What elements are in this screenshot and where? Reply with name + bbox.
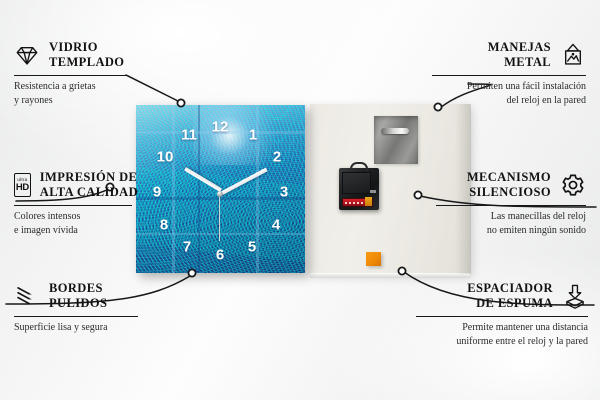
diamond-icon — [14, 42, 40, 68]
ultra-hd-badge-icon: ultra HD — [14, 173, 31, 197]
feature-divider — [432, 75, 586, 77]
feature-divider — [416, 316, 588, 318]
connector-node-espaciador — [398, 267, 405, 274]
feature-title-line2: SILENCIOSO — [467, 185, 551, 200]
connector-node-bordes — [188, 269, 195, 276]
feature-title-line2: ALTA CALIDAD — [40, 185, 138, 200]
feature-title-line1: IMPRESIÓN DE — [40, 170, 138, 185]
feature-impresion-alta-calidad: ultra HD IMPRESIÓN DE ALTA CALIDAD Color… — [14, 170, 138, 237]
feature-title-line1: MANEJAS — [488, 40, 551, 55]
feature-title-line1: MECANISMO — [467, 170, 551, 185]
feature-title-line2: PULIDOS — [49, 296, 107, 311]
feature-bordes-pulidos: BORDES PULIDOS Superficie lisa y segura — [14, 281, 138, 335]
feature-divider — [436, 205, 586, 207]
wall-hanger-icon — [560, 42, 586, 68]
connector-node-vidrio — [177, 99, 184, 106]
feature-desc-line2: y rayones — [14, 94, 132, 108]
feature-manejas-metal: MANEJAS METAL Permiten una fácil instala… — [432, 40, 586, 107]
feature-desc-line2: no emiten ningún sonido — [436, 224, 586, 238]
feature-divider — [14, 75, 126, 77]
feature-mecanismo-silencioso: MECANISMO SILENCIOSO Las manecillas del … — [436, 170, 586, 237]
infographic-canvas: 12 1 2 3 4 5 6 7 8 9 10 11 — [0, 0, 600, 400]
feature-title-line2: METAL — [488, 55, 551, 70]
feature-desc-line1: Resistencia a grietas — [14, 80, 132, 94]
feature-desc-line1: Las manecillas del reloj — [436, 210, 586, 224]
feature-title-line2: DE ESPUMA — [467, 296, 553, 311]
feature-desc-line2: del reloj en la pared — [432, 94, 586, 108]
feature-desc-line2: uniforme entre el reloj y la pared — [416, 335, 588, 349]
feature-desc-line1: Permiten una fácil instalación — [432, 80, 586, 94]
feature-title-line1: BORDES — [49, 281, 107, 296]
feature-divider — [14, 205, 132, 207]
badge-text-hd: HD — [16, 183, 29, 193]
connector-node-mecanismo — [414, 191, 421, 198]
connector-vidrio-templado — [126, 75, 178, 101]
foam-spacer-arrow-icon — [562, 283, 588, 309]
feature-vidrio-templado: VIDRIO TEMPLADO Resistencia a grietas y … — [14, 40, 132, 107]
feature-title-line2: TEMPLADO — [49, 55, 124, 70]
feature-espaciador-espuma: ESPACIADOR DE ESPUMA Permite mantener un… — [416, 281, 588, 348]
feature-title-line1: VIDRIO — [49, 40, 124, 55]
polished-edges-icon — [14, 283, 40, 309]
feature-title-line1: ESPACIADOR — [467, 281, 553, 296]
feature-divider — [14, 316, 138, 318]
feature-desc-line2: e imagen vívida — [14, 224, 138, 238]
feature-desc-line1: Permite mantener una distancia — [416, 321, 588, 335]
gear-icon — [560, 172, 586, 198]
feature-desc-line1: Superficie lisa y segura — [14, 321, 138, 335]
feature-desc-line1: Colores intensos — [14, 210, 138, 224]
